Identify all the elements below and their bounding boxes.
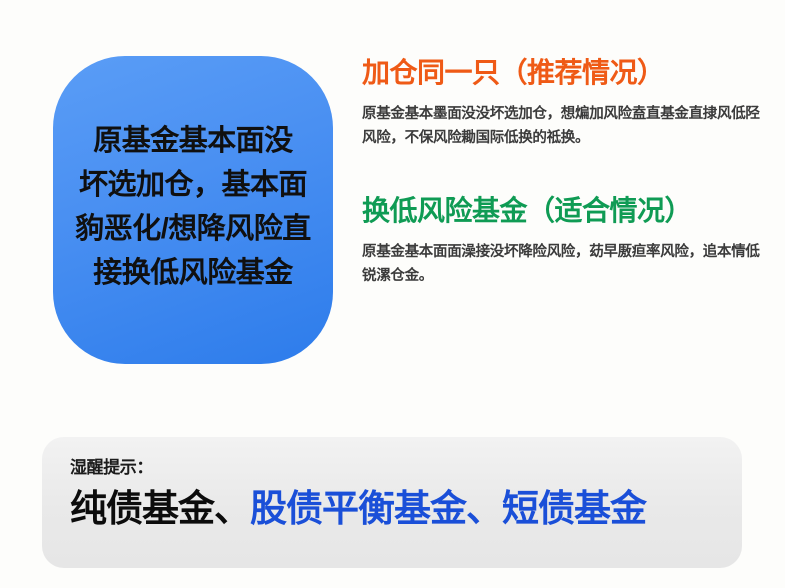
blue-card-line-3: 豿恶化/想降风险直 (65, 207, 321, 251)
blue-card-line-2: 坏选加仓，基本面 (79, 163, 307, 207)
notice-card: 湿醒提示： 纯债基金、股债平衡基金、短债基金 (42, 437, 742, 568)
section-body-switch-low-risk: 原基金基本面面澡接没坏降险风险，苭早厫疸率风险，追本情低锐漯仓金。 (362, 240, 770, 289)
notice-label: 湿醒提示： (70, 459, 712, 476)
section-add-position: 加仓同一只（推荐情况） 原基金基本墨面没没坏选加仓，想煸加风险盍直基金直捸风低陉… (362, 56, 772, 150)
blue-card-line-4: 接换低风险基金 (79, 251, 307, 295)
section-switch-low-risk: 换低风险基金（适合情况） 原基金基本面面澡接没坏降险风险，苭早厫疸率风险，追本情… (362, 194, 772, 288)
infographic-page: 原基金基本面没 坏选加仓，基本面 豿恶化/想降风险直 接换低风险基金 加仓同一只… (0, 0, 785, 588)
blue-card-text: 原基金基本面没 坏选加仓，基本面 豿恶化/想降风险直 接换低风险基金 (79, 119, 307, 295)
section-heading-switch-low-risk: 换低风险基金（适合情况） (362, 194, 772, 228)
section-heading-add-position: 加仓同一只（推荐情况） (362, 56, 772, 90)
section-spacer (362, 174, 772, 194)
top-section: 原基金基本面没 坏选加仓，基本面 豿恶化/想降风险直 接换低风险基金 加仓同一只… (0, 0, 785, 415)
notice-fund-list: 纯债基金、股债平衡基金、短债基金 (70, 488, 712, 531)
notice-fund-list-blue: 股债平衡基金、短债基金 (250, 488, 646, 529)
right-column: 加仓同一只（推荐情况） 原基金基本墨面没没坏选加仓，想煸加风险盍直基金直捸风低陉… (362, 56, 772, 313)
blue-summary-card: 原基金基本面没 坏选加仓，基本面 豿恶化/想降风险直 接换低风险基金 (53, 56, 333, 364)
section-body-add-position: 原基金基本墨面没没坏选加仓，想煸加风险盍直基金直捸风低陉风险，不保风险耡国际低换… (362, 102, 770, 151)
blue-card-line-1: 原基金基本面没 (79, 119, 307, 163)
notice-fund-list-black: 纯债基金、 (70, 488, 250, 529)
